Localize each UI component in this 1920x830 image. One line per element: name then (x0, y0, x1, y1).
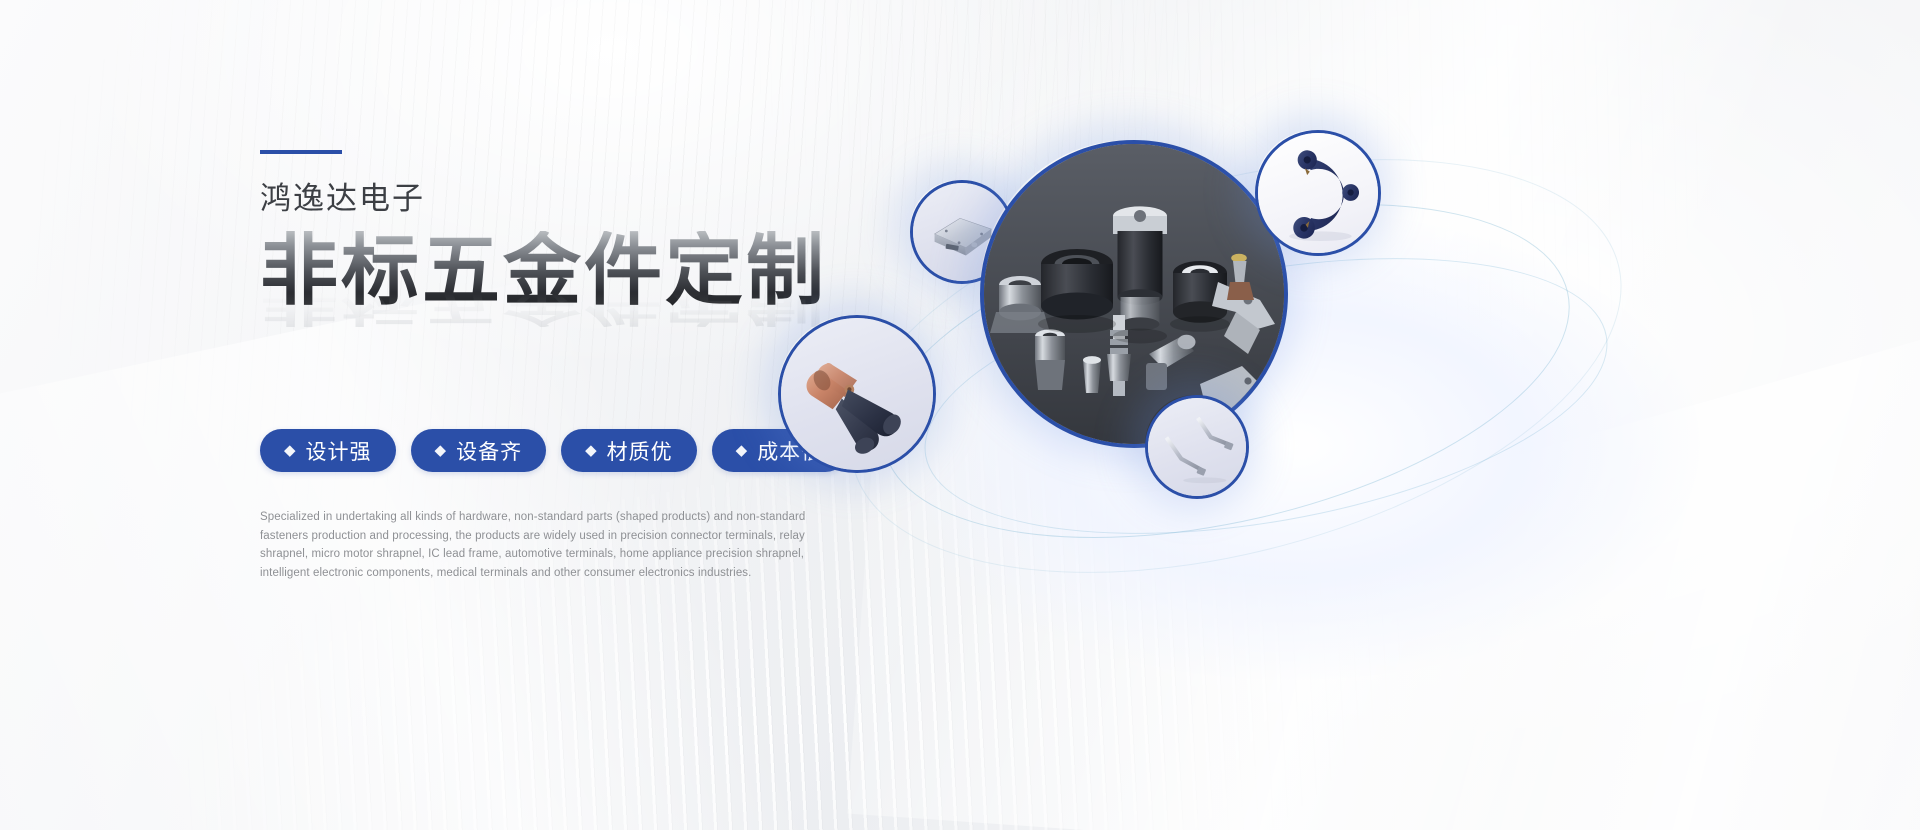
diamond-icon: ◆ (585, 443, 598, 458)
copper-battery-clamp-icon (781, 318, 933, 470)
navy-retaining-ring-icon (1258, 133, 1378, 253)
brand-name: 鸿逸达电子 (260, 180, 900, 217)
bubble-background (1148, 398, 1246, 496)
product-bubble-bent-metal-pins[interactable] (1145, 395, 1249, 499)
diamond-icon: ◆ (435, 443, 448, 458)
feature-pill-label: 材质优 (607, 436, 673, 466)
banner-description: Specialized in undertaking all kinds of … (260, 508, 825, 583)
feature-pill-material[interactable]: ◆ 材质优 (561, 429, 697, 472)
hero-banner: 鸿逸达电子 非标五金件定制 非标五金件定制 ◆ 设计强 ◆ 设备齐 ◆ 材质优 … (0, 0, 1920, 830)
bent-metal-pins-icon (1148, 398, 1246, 496)
feature-pill-label: 设备齐 (456, 436, 522, 466)
product-bubble-copper-battery-clamp[interactable] (778, 315, 936, 473)
product-bubble-navy-retaining-ring[interactable] (1255, 130, 1381, 256)
diamond-icon: ◆ (284, 443, 297, 458)
diamond-icon: ◆ (736, 443, 749, 458)
product-showcase (900, 120, 1920, 740)
feature-pill-design[interactable]: ◆ 设计强 (260, 429, 396, 472)
accent-rule (260, 150, 342, 154)
bubble-background (1258, 133, 1378, 253)
page-title: 非标五金件定制 (260, 231, 900, 309)
bubble-background (781, 318, 933, 470)
feature-pill-equipment[interactable]: ◆ 设备齐 (411, 429, 547, 472)
feature-pill-label: 设计强 (306, 436, 372, 466)
